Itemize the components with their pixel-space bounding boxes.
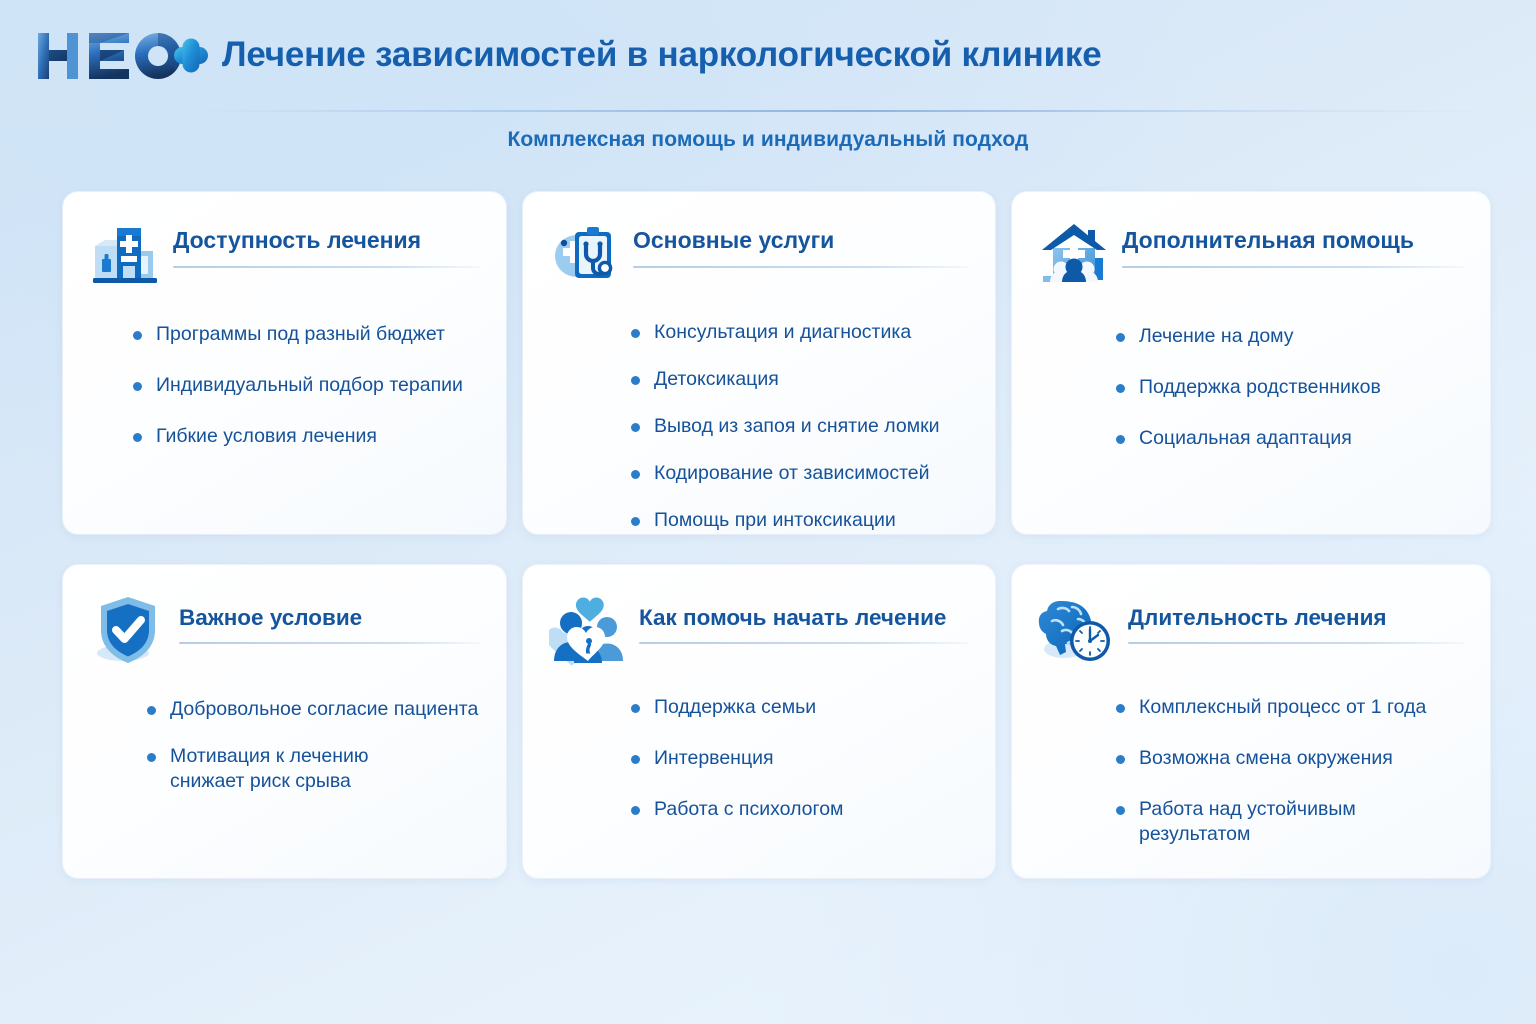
card-header: Основные услуги xyxy=(549,216,969,302)
list-item: Интервенция xyxy=(631,746,969,771)
list-item: Возможна смена окружения xyxy=(1116,746,1464,771)
card-osnovnye-uslugi[interactable]: Основные услуги Консультация и диагности… xyxy=(523,192,995,534)
card-bullet-list: Лечение на дому Поддержка родственников … xyxy=(1038,324,1464,451)
card-title-block: Длительность лечения xyxy=(1128,589,1464,644)
clipboard-stethoscope-icon xyxy=(549,218,621,290)
brain-clock-icon xyxy=(1038,591,1116,669)
page-title: Лечение зависимостей в наркологической к… xyxy=(222,37,1102,75)
card-title: Важное условие xyxy=(179,605,480,630)
card-dlitelnost-lecheniya[interactable]: Длительность лечения Комплексный процесс… xyxy=(1012,565,1490,878)
list-item: Социальная адаптация xyxy=(1116,426,1464,451)
card-title-block: Доступность лечения xyxy=(173,216,480,268)
list-item: Работа над устойчивым результатом xyxy=(1116,797,1464,847)
list-item: Программы под разный бюджет xyxy=(133,322,480,347)
card-vazhnoe-uslovie[interactable]: Важное условие Добровольное согласие пац… xyxy=(63,565,506,878)
card-bullet-list: Поддержка семьи Интервенция Работа с пси… xyxy=(549,695,969,822)
card-dopolnitelnaya-pomoshch[interactable]: Дополнительная помощь Лечение на дому По… xyxy=(1012,192,1490,534)
card-title: Доступность лечения xyxy=(173,228,480,254)
list-item: Вывод из запоя и снятие ломки xyxy=(631,414,969,439)
card-bullet-list: Программы под разный бюджет Индивидуальн… xyxy=(89,322,480,449)
list-item: Поддержка родственников xyxy=(1116,375,1464,400)
card-title: Дополнительная помощь xyxy=(1122,228,1464,254)
neo-plus-logo xyxy=(34,25,210,87)
list-item: Гибкие условия лечения xyxy=(133,424,480,449)
title-underline xyxy=(1128,642,1464,644)
card-header: Дополнительная помощь xyxy=(1038,216,1464,302)
card-header: Длительность лечения xyxy=(1038,589,1464,675)
family-heart-icon xyxy=(549,591,627,669)
list-item: Консультация и диагностика xyxy=(631,320,969,345)
page-subtitle: Комплексная помощь и индивидуальный подх… xyxy=(0,128,1536,152)
title-underline xyxy=(633,266,969,268)
card-title-block: Важное условие xyxy=(179,589,480,644)
card-bullet-list: Консультация и диагностика Детоксикация … xyxy=(549,320,969,533)
card-title-block: Основные услуги xyxy=(633,216,969,268)
header-divider xyxy=(196,110,1486,112)
card-bullet-list: Добровольное согласие пациента Мотивация… xyxy=(89,697,480,794)
card-header: Как помочь начать лечение xyxy=(549,589,969,675)
card-header: Важное условие xyxy=(89,589,480,675)
card-title: Основные услуги xyxy=(633,228,969,254)
list-item: Детоксикация xyxy=(631,367,969,392)
card-title: Длительность лечения xyxy=(1128,605,1464,630)
card-bullet-list: Комплексный процесс от 1 года Возможна с… xyxy=(1038,695,1464,847)
cards-grid: Доступность лечения Программы под разный… xyxy=(63,192,1473,878)
list-item: Лечение на дому xyxy=(1116,324,1464,349)
list-item: Помощь при интоксикации xyxy=(631,508,969,533)
house-family-cross-icon xyxy=(1038,218,1110,290)
page-header: Лечение зависимостей в наркологической к… xyxy=(0,0,1536,112)
card-title: Как помочь начать лечение xyxy=(639,605,969,630)
title-underline xyxy=(173,266,480,268)
list-item: Добровольное согласие пациента xyxy=(147,697,480,722)
card-dostupnost-lecheniya[interactable]: Доступность лечения Программы под разный… xyxy=(63,192,506,534)
list-item: Поддержка семьи xyxy=(631,695,969,720)
list-item: Комплексный процесс от 1 года xyxy=(1116,695,1464,720)
shield-check-icon xyxy=(89,591,167,669)
title-underline xyxy=(179,642,480,644)
title-underline xyxy=(1122,266,1464,268)
list-item: Мотивация к лечению снижает риск срыва xyxy=(147,744,447,794)
list-item: Индивидуальный подбор терапии xyxy=(133,373,480,398)
title-underline xyxy=(639,642,969,644)
hospital-building-icon xyxy=(89,218,161,290)
card-title-block: Как помочь начать лечение xyxy=(639,589,969,644)
card-title-block: Дополнительная помощь xyxy=(1122,216,1464,268)
list-item: Кодирование от зависимостей xyxy=(631,461,969,486)
card-header: Доступность лечения xyxy=(89,216,480,302)
list-item: Работа с психологом xyxy=(631,797,969,822)
card-kak-pomoch-nachat-lechenie[interactable]: Как помочь начать лечение Поддержка семь… xyxy=(523,565,995,878)
